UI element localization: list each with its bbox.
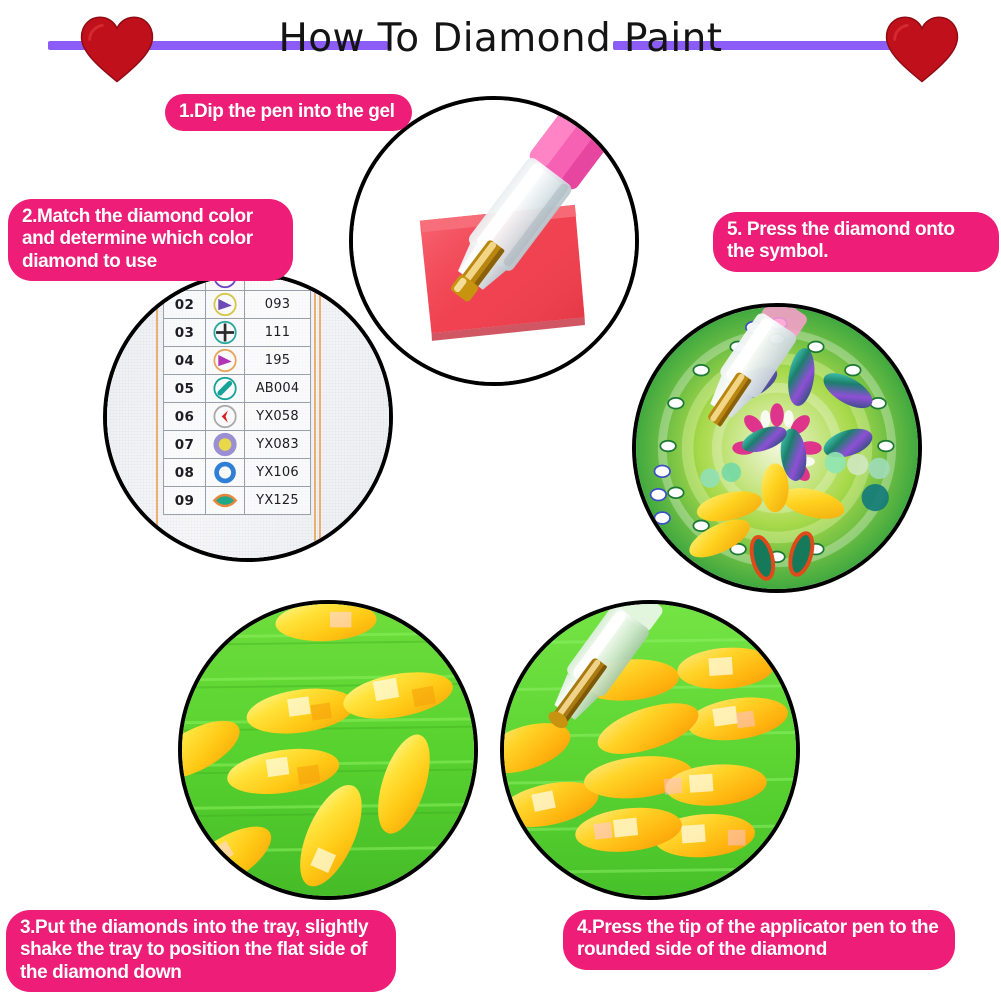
color-chart-row: 04195 (164, 347, 311, 375)
filled-dot-circle-symbol (206, 431, 244, 458)
color-chart-rows: 02002093031110419505AB00406YX05807YX0830… (164, 272, 311, 515)
color-chart-row: 09YX125 (164, 487, 311, 515)
step-3-label: 3.Put the diamonds into the tray, slight… (6, 910, 396, 992)
color-chart-row-number: 03 (164, 319, 206, 347)
color-chart-row: 05AB004 (164, 375, 311, 403)
color-chart-row-code: AB004 (245, 375, 311, 403)
header: How To Diamond Paint (0, 0, 1001, 80)
color-chart-row-code: 195 (245, 347, 311, 375)
leaf-circle-symbol (206, 487, 244, 514)
color-chart-row-symbol (205, 375, 244, 403)
diagonal-bar-circle-symbol (206, 375, 244, 402)
color-chart-row-code: YX058 (245, 403, 311, 431)
pen-picking-up-diamond-photo (500, 600, 800, 900)
page-title: How To Diamond Paint (0, 16, 1001, 61)
canvas-orange-guide-line (156, 276, 158, 558)
triangle-circle-symbol (206, 347, 244, 374)
color-chart-row-symbol (205, 347, 244, 375)
step-5-label: 5. Press the diamond onto the symbol. (713, 212, 999, 272)
step-2-label: 2.Match the diamond color and determine … (8, 199, 293, 281)
color-chart-row-code: 111 (245, 319, 311, 347)
color-chart-row-code: 093 (245, 291, 311, 319)
color-chart-row-symbol (205, 291, 244, 319)
canvas-orange-guide-line (319, 276, 321, 558)
color-chart-row-symbol (205, 319, 244, 347)
color-chart-row: 07YX083 (164, 431, 311, 459)
color-chart-row: 08YX106 (164, 459, 311, 487)
color-chart-table: 02002093031110419505AB00406YX05807YX0830… (163, 272, 311, 515)
color-chart-row-number: 07 (164, 431, 206, 459)
color-chart-row-number: 09 (164, 487, 206, 515)
color-chart-row-number: 08 (164, 459, 206, 487)
canvas-orange-guide-line (314, 276, 316, 558)
color-chart-photo: 02002093031110419505AB00406YX05807YX0830… (103, 272, 393, 562)
color-chart-row-symbol (205, 431, 244, 459)
color-chart-row-symbol (205, 403, 244, 431)
chevron-left-circle-symbol (206, 403, 244, 430)
color-chart-row-number: 06 (164, 403, 206, 431)
color-chart-row: 03111 (164, 319, 311, 347)
color-chart-row-number: 02 (164, 291, 206, 319)
step-1-label: 1.Dip the pen into the gel (165, 94, 412, 131)
color-chart-row-number: 04 (164, 347, 206, 375)
color-chart-row-code: YX106 (245, 459, 311, 487)
infographic-canvas: How To Diamond Paint (0, 0, 1001, 1001)
color-chart-row-code: YX083 (245, 431, 311, 459)
ring-circle-symbol (206, 459, 244, 486)
step-4-label: 4.Press the tip of the applicator pen to… (563, 910, 955, 970)
pen-dipping-into-gel-photo (349, 96, 639, 386)
placing-diamond-on-canvas-photo (632, 303, 922, 593)
plus-circle-symbol (206, 319, 244, 346)
color-chart-row-symbol (205, 487, 244, 515)
color-chart-row-symbol (205, 459, 244, 487)
triangle-circle-symbol (206, 291, 244, 318)
color-chart-row: 06YX058 (164, 403, 311, 431)
color-chart-row-number: 05 (164, 375, 206, 403)
color-chart-row-code: YX125 (245, 487, 311, 515)
diamonds-in-green-tray-photo (178, 600, 478, 900)
color-chart-row: 02093 (164, 291, 311, 319)
